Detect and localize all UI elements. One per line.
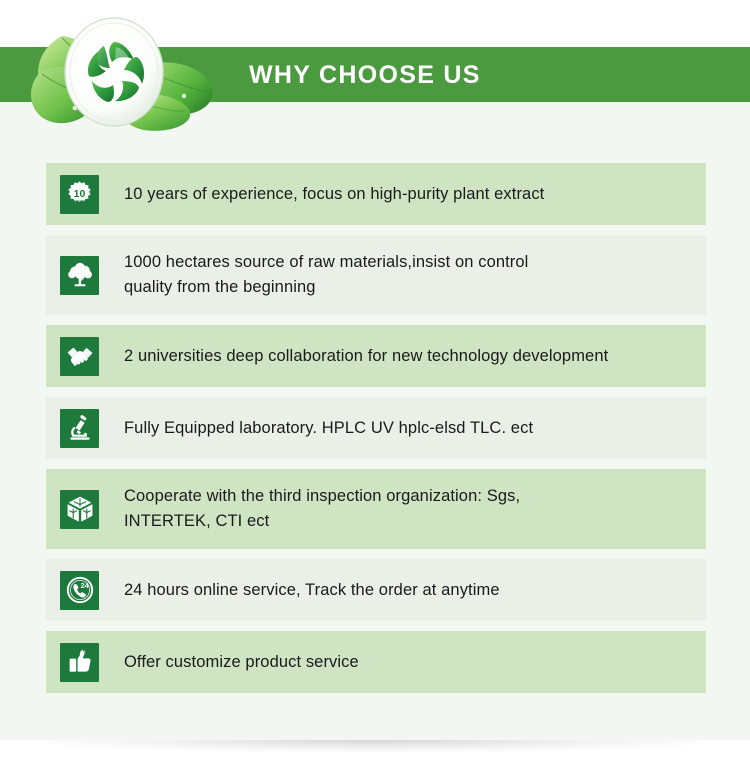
list-item[interactable]: Fully Equipped laboratory. HPLC UV hplc-…	[46, 397, 706, 459]
list-item[interactable]: 24 24 hours online service, Track the or…	[46, 559, 706, 621]
panel: WHY CHOOSE US 10 years 10 years of exper…	[0, 0, 750, 740]
list-item-line: INTERTEK, CTI ect	[124, 509, 520, 534]
list-item[interactable]: 2 universities deep collaboration for ne…	[46, 325, 706, 387]
list-item[interactable]: Cooperate with the third inspection orga…	[46, 469, 706, 549]
list-item-line: quality from the beginning	[124, 275, 528, 300]
cube-box-icon	[60, 490, 99, 529]
list-item-text: 10 years of experience, focus on high-pu…	[124, 182, 544, 207]
list-item-line: 10 years of experience, focus on high-pu…	[124, 182, 544, 207]
list-item-line: 24 hours online service, Track the order…	[124, 578, 500, 603]
list-item-line: 2 universities deep collaboration for ne…	[124, 344, 608, 369]
list-item-text: 24 hours online service, Track the order…	[124, 578, 500, 603]
list-item-text: 2 universities deep collaboration for ne…	[124, 344, 608, 369]
svg-text:years: years	[74, 198, 86, 203]
leaf-recycle-emblem-logo-icon	[18, 12, 230, 134]
handshake-icon	[60, 337, 99, 376]
microscope-icon	[60, 409, 99, 448]
list-item-line: Offer customize product service	[124, 650, 359, 675]
why-choose-us-banner: WHY CHOOSE US 10 years 10 years of exper…	[0, 0, 750, 766]
ten-years-badge-icon: 10 years	[60, 175, 99, 214]
list-item-text: Fully Equipped laboratory. HPLC UV hplc-…	[124, 416, 533, 441]
list-item-line: 1000 hectares source of raw materials,in…	[124, 250, 528, 275]
list-item-line: Fully Equipped laboratory. HPLC UV hplc-…	[124, 416, 533, 441]
list-item-line: Cooperate with the third inspection orga…	[124, 484, 520, 509]
panel-drop-shadow	[0, 740, 750, 766]
phone-24h-icon: 24	[60, 571, 99, 610]
tree-icon	[60, 256, 99, 295]
list-item-text: Cooperate with the third inspection orga…	[124, 484, 520, 534]
feature-list: 10 years 10 years of experience, focus o…	[46, 163, 706, 703]
page-title: WHY CHOOSE US	[249, 60, 481, 90]
list-item-text: Offer customize product service	[124, 650, 359, 675]
list-item[interactable]: 10 years 10 years of experience, focus o…	[46, 163, 706, 225]
list-item[interactable]: Offer customize product service	[46, 631, 706, 693]
list-item-text: 1000 hectares source of raw materials,in…	[124, 250, 528, 300]
list-item[interactable]: 1000 hectares source of raw materials,in…	[46, 235, 706, 315]
thumbs-up-icon	[60, 643, 99, 682]
svg-text:24: 24	[80, 581, 88, 590]
